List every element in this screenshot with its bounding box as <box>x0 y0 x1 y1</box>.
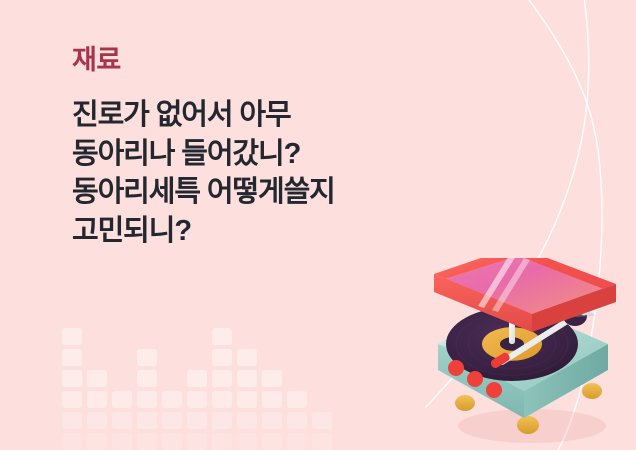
spindle-post <box>509 314 515 344</box>
headline-text: 진로가 없어서 아무 동아리나 들어갔니? 동아리세특 어떻게쓸지 고민되니? <box>72 96 502 250</box>
tonearm <box>489 305 598 370</box>
equalizer-block <box>62 349 82 366</box>
equalizer-block <box>237 433 257 450</box>
body-top-plate <box>438 302 608 391</box>
equalizer-block <box>162 391 182 408</box>
record-player-lid <box>434 258 616 332</box>
record-player-illustration <box>420 258 636 450</box>
equalizer-block <box>62 328 82 345</box>
button-3[interactable] <box>486 382 502 398</box>
lid-highlight-streak <box>478 258 516 308</box>
equalizer-block <box>287 412 307 429</box>
equalizer-block <box>187 433 207 450</box>
lid-glass-reflection <box>482 294 596 320</box>
foot-right <box>582 383 602 399</box>
equalizer-block <box>212 412 232 429</box>
equalizer-bars <box>62 328 332 450</box>
equalizer-block <box>312 433 332 450</box>
equalizer-block <box>87 391 107 408</box>
equalizer-block <box>287 433 307 450</box>
equalizer-column <box>287 391 307 450</box>
lid-top-rim <box>434 258 616 316</box>
vinyl-label <box>482 327 542 361</box>
drop-shadow <box>458 409 606 443</box>
equalizer-block <box>137 433 157 450</box>
equalizer-block <box>237 391 257 408</box>
equalizer-block <box>62 370 82 387</box>
equalizer-block <box>262 370 282 387</box>
equalizer-block <box>262 433 282 450</box>
lid-inner-face <box>442 258 606 316</box>
equalizer-block <box>237 412 257 429</box>
equalizer-block <box>137 391 157 408</box>
equalizer-block <box>112 433 132 450</box>
equalizer-block <box>237 370 257 387</box>
equalizer-block <box>162 433 182 450</box>
equalizer-block <box>237 349 257 366</box>
vinyl-groove <box>468 319 556 368</box>
vinyl-groove <box>456 313 568 376</box>
body-edge-highlight <box>438 302 520 347</box>
equalizer-block <box>137 349 157 366</box>
button-2[interactable] <box>467 371 483 387</box>
tonearm-shaft <box>502 318 572 362</box>
vinyl-disc <box>446 307 578 381</box>
body-right-face <box>524 344 608 418</box>
equalizer-block <box>137 370 157 387</box>
equalizer-block <box>87 412 107 429</box>
equalizer-block <box>162 412 182 429</box>
equalizer-column <box>112 391 132 450</box>
equalizer-block <box>212 349 232 366</box>
equalizer-block <box>87 370 107 387</box>
equalizer-block <box>112 412 132 429</box>
lid-front-skirt <box>434 274 532 332</box>
lid-right-skirt <box>532 284 616 332</box>
equalizer-block <box>187 391 207 408</box>
page-title: 재료 <box>72 47 502 74</box>
foot-front <box>517 416 539 434</box>
equalizer-column <box>162 391 182 450</box>
button-1[interactable] <box>448 360 464 376</box>
equalizer-column <box>62 328 82 450</box>
equalizer-column <box>87 370 107 450</box>
equalizer-block <box>62 412 82 429</box>
poster-canvas: 재료 진로가 없어서 아무 동아리나 들어갔니? 동아리세특 어떻게쓸지 고민되… <box>0 0 636 450</box>
swoosh-curve-outer <box>520 0 602 450</box>
tonearm-cartridge <box>489 351 511 369</box>
vinyl-spindle-hole <box>500 337 524 350</box>
equalizer-column <box>212 328 232 450</box>
vinyl-record <box>446 307 578 381</box>
equalizer-block <box>87 433 107 450</box>
equalizer-column <box>137 349 157 450</box>
equalizer-block <box>187 370 207 387</box>
equalizer-column <box>187 370 207 450</box>
equalizer-block <box>312 412 332 429</box>
equalizer-block <box>287 391 307 408</box>
equalizer-block <box>262 412 282 429</box>
equalizer-block <box>212 391 232 408</box>
foot-left <box>455 395 475 411</box>
equalizer-column <box>237 349 257 450</box>
equalizer-block <box>62 391 82 408</box>
equalizer-block <box>187 412 207 429</box>
tonearm-pivot <box>563 306 587 326</box>
equalizer-column <box>262 370 282 450</box>
text-block: 재료 진로가 없어서 아무 동아리나 들어갔니? 동아리세특 어떻게쓸지 고민되… <box>72 47 502 250</box>
equalizer-block <box>112 391 132 408</box>
record-player-feet <box>455 383 602 434</box>
equalizer-block <box>137 412 157 429</box>
tonearm-counterweight <box>580 305 599 316</box>
equalizer-block <box>212 433 232 450</box>
control-buttons[interactable] <box>448 360 502 398</box>
equalizer-block <box>212 328 232 345</box>
lid-highlight-streak <box>492 258 530 312</box>
body-front-face <box>438 344 524 418</box>
equalizer-column <box>312 412 332 450</box>
equalizer-block <box>212 370 232 387</box>
equalizer-block <box>62 433 82 450</box>
equalizer-block <box>262 391 282 408</box>
